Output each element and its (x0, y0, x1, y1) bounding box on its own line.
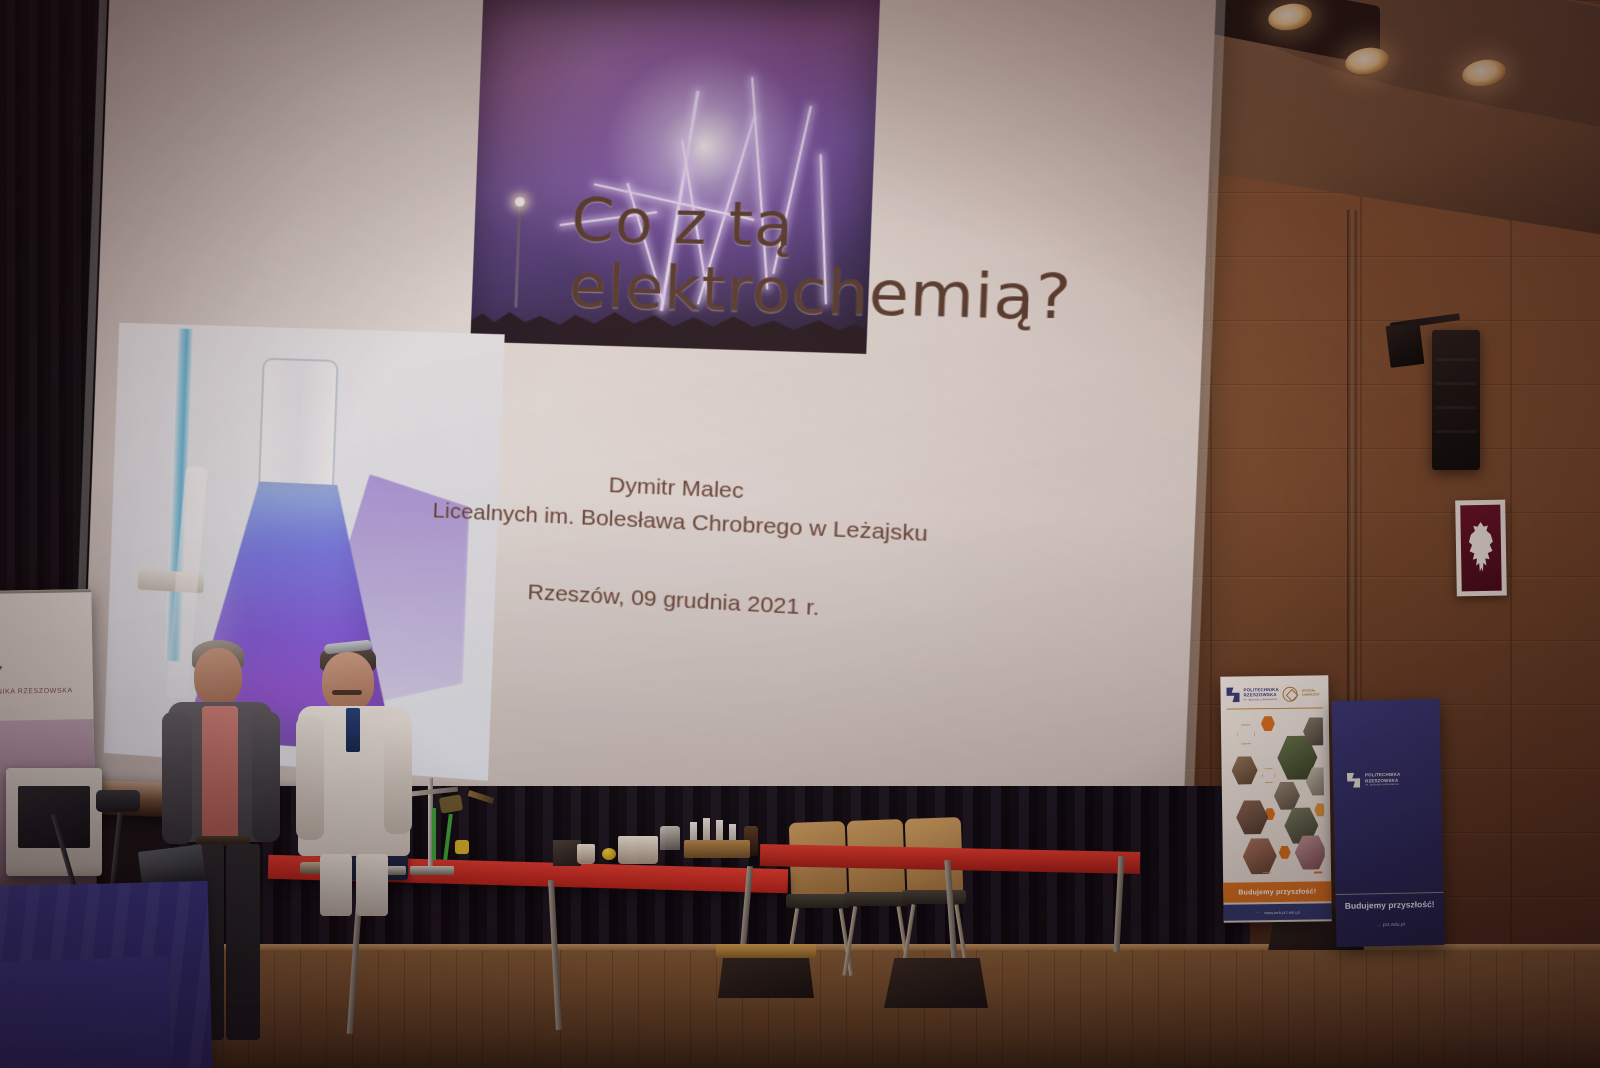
banner-far-left-text-2: CZNY (0, 663, 4, 688)
front-draped-table-lower (0, 956, 172, 1068)
moustache (332, 690, 362, 695)
banner-white-claim: Budujemy przyszłość! (1238, 888, 1316, 896)
slide-title-line-2: elektrochemią? (568, 254, 1021, 331)
banner-white-claim-bar: Budujemy przyszłość! (1223, 881, 1331, 903)
conference-hall-photo: Co z tą elektrochemią? Dymitr Malec Lice… (0, 0, 1600, 1068)
glass-vessel (660, 826, 680, 850)
banner-divider (1335, 892, 1443, 895)
white-eagle-icon (1468, 522, 1495, 574)
banner-blue-url: → prz.edu.pl (1336, 921, 1444, 929)
faculty-seal-icon (1283, 686, 1298, 701)
slide-author-name: Dymitr Malec (608, 473, 744, 503)
video-camera (96, 790, 140, 812)
shirt (202, 706, 238, 840)
plastic-cup (577, 844, 595, 864)
line-array-speaker (1432, 330, 1480, 470)
yellow-fitting (455, 840, 469, 854)
speaker-cabinet-small (1386, 322, 1425, 368)
banner-white-org: POLITECHNIKA RZESZOWSKA im. Ignacego Łuk… (1243, 687, 1279, 702)
slide-title: Co z tą elektrochemią? (568, 190, 1023, 332)
banner-white-url: www.wch.prz.edu.pl (1264, 909, 1299, 914)
banner-white-header: POLITECHNIKA RZESZOWSKA im. Ignacego Łuk… (1226, 681, 1322, 706)
necktie (346, 708, 360, 752)
banner-white-url-bar: → www.wch.prz.edu.pl (1223, 903, 1331, 921)
polish-coat-of-arms-emblem (1455, 500, 1507, 597)
banner-white-dept: WYDZIAŁ CHEMICZNY (1302, 690, 1320, 697)
org-sub: im. Ignacego Łukasiewicza (1365, 783, 1400, 787)
banner-blue-header: POLITECHNIKA RZESZOWSKA im. Ignacego Łuk… (1347, 772, 1401, 788)
person-presenter-lab (298, 646, 418, 916)
banner-blue-claim: Budujemy przyszłość! (1336, 899, 1444, 911)
banner-blue-url-text: prz.edu.pl (1383, 922, 1405, 928)
green-tube (432, 808, 436, 860)
org-sub: im. Ignacego Łukasiewicza (1244, 698, 1279, 702)
banner-faculty-chemistry: POLITECHNIKA RZESZOWSKA im. Ignacego Łuk… (1220, 675, 1331, 922)
banner-university: POLITECHNIKA RZESZOWSKA im. Ignacego Łuk… (1331, 699, 1444, 947)
university-logo-icon (1347, 773, 1360, 788)
yellow-ball (602, 848, 616, 860)
glass-beaker (618, 836, 658, 864)
storm-pole (514, 203, 521, 307)
banner-blue-org: POLITECHNIKA RZESZOWSKA im. Ignacego Łuk… (1365, 772, 1401, 787)
university-logo-icon (1226, 687, 1239, 702)
banner-divider (1227, 707, 1323, 709)
banner-far-left-text-3: POLITECHNIKA RZESZOWSKA (0, 687, 73, 696)
stage-floor (170, 950, 1600, 1068)
dept-line-2: CHEMICZNY (1302, 693, 1320, 697)
arrow-right-icon: → (1375, 922, 1381, 928)
stage-monitor-speaker (884, 958, 988, 1008)
arrow-right-icon: → (1255, 909, 1261, 915)
monitor-top-trim (716, 944, 816, 958)
wooden-rack (684, 840, 750, 858)
stage-monitor-speaker (718, 952, 814, 998)
banner-hexagon-collage (1227, 711, 1325, 874)
